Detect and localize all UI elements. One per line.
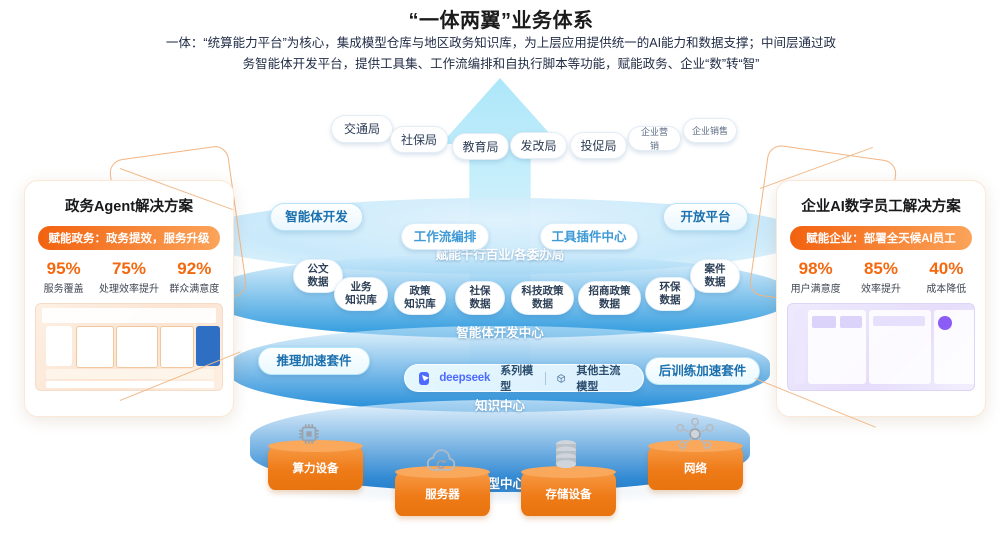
deepseek-logo-icon [419,372,429,385]
pill-inference-kit[interactable]: 推理加速套件 [258,347,370,375]
right-stat-0-label: 用户满意度 [783,280,848,295]
pill-department-0[interactable]: 交通局 [331,115,393,143]
left-card-screenshot-mock [35,303,223,391]
model-strip[interactable]: deepseek 系列模型 其他主流模型 [404,364,644,392]
right-card-screenshot-mock [787,303,975,391]
right-solution-card: 企业AI数字员工解决方案 赋能企业：部署全天候AI员工 98% 用户满意度 85… [776,180,986,417]
pill-capability-agent-dev[interactable]: 智能体开发 [270,203,363,231]
right-stat-2: 40% 成本降低 [914,259,979,295]
subtitle-line-1: 一体：“统算能力平台”为核心，集成模型仓库与地区政务知识库，为上层应用提供统一的… [145,33,857,54]
pill-knowledge-7[interactable]: 案件 数据 [690,259,740,293]
infra-storage[interactable]: 存储设备 [521,472,616,516]
strip-divider [545,372,546,385]
pill-capability-open-platform[interactable]: 开放平台 [663,203,748,231]
infra-server[interactable]: 服务器 [395,472,490,516]
cube-icon [556,372,566,385]
right-stat-1-value: 85% [848,259,913,279]
deepseek-suffix: 系列模型 [500,362,535,394]
left-stat-1: 75% 处理效率提升 [96,259,161,295]
right-card-title: 企业AI数字员工解决方案 [777,195,985,216]
left-stat-2: 92% 群众满意度 [162,259,227,295]
pill-department-1[interactable]: 社保局 [390,126,448,153]
pill-knowledge-3[interactable]: 社保 数据 [455,281,505,315]
pill-knowledge-4[interactable]: 科技政策 数据 [511,281,574,315]
page-subtitle: 一体：“统算能力平台”为核心，集成模型仓库与地区政务知识库，为上层应用提供统一的… [145,33,857,75]
left-stat-1-label: 处理效率提升 [96,280,161,295]
left-stat-1-value: 75% [96,259,161,279]
right-stat-0: 98% 用户满意度 [783,259,848,295]
right-stat-1: 85% 效率提升 [848,259,913,295]
right-card-ribbon: 赋能企业：部署全天候AI员工 [790,226,972,250]
layer-label-knowledge: 知识中心 [180,395,820,414]
layer-label-agent-dev: 智能体开发中心 [180,322,820,341]
infra-compute-label: 算力设备 [293,460,339,476]
deepseek-name: deepseek [439,372,490,384]
infra-network[interactable]: 网络 [648,446,743,490]
right-card-stats: 98% 用户满意度 85% 效率提升 40% 成本降低 [783,259,979,295]
subtitle-line-2: 务智能体开发平台，提供工具集、工作流编排和自执行脚本等功能，赋能政务、企业“数”… [145,54,857,75]
left-solution-card: 政务Agent解决方案 赋能政务：政务提效，服务升级 95% 服务覆盖 75% … [24,180,234,417]
page-title: “一体两翼”业务体系 [0,4,1002,33]
network-icon [673,418,717,450]
left-stat-0-label: 服务覆盖 [31,280,96,295]
right-stat-2-value: 40% [914,259,979,279]
left-stat-2-label: 群众满意度 [162,280,227,295]
database-icon [551,438,581,474]
infographic-canvas: “一体两翼”业务体系 一体：“统算能力平台”为核心，集成模型仓库与地区政务知识库… [0,0,1002,534]
right-stat-0-value: 98% [783,259,848,279]
pill-department-2[interactable]: 教育局 [452,133,509,160]
pill-posttrain-kit[interactable]: 后训练加速套件 [645,357,760,385]
pill-knowledge-1[interactable]: 业务 知识库 [334,277,388,311]
right-stat-1-label: 效率提升 [848,280,913,295]
left-stat-0: 95% 服务覆盖 [31,259,96,295]
infra-server-label: 服务器 [425,486,460,502]
pill-department-6[interactable]: 企业销售 [683,118,737,143]
left-card-ribbon: 赋能政务：政务提效，服务升级 [38,226,220,250]
pill-department-3[interactable]: 发改局 [510,132,567,159]
cloud-sync-icon [424,449,460,475]
infra-network-label: 网络 [684,460,707,476]
pill-knowledge-5[interactable]: 招商政策 数据 [578,281,641,315]
pill-department-4[interactable]: 投促局 [570,132,627,159]
left-stat-2-value: 92% [162,259,227,279]
pill-department-5[interactable]: 企业营销 [628,126,681,151]
pill-capability-workflow[interactable]: 工作流编排 [401,223,489,250]
chip-icon [296,421,322,447]
infra-storage-label: 存储设备 [546,486,592,502]
right-stat-2-label: 成本降低 [914,280,979,295]
infra-compute[interactable]: 算力设备 [268,446,363,490]
left-card-stats: 95% 服务覆盖 75% 处理效率提升 92% 群众满意度 [31,259,227,295]
pill-knowledge-6[interactable]: 环保 数据 [645,277,695,311]
other-models-label: 其他主流模型 [576,362,629,394]
pill-knowledge-2[interactable]: 政策 知识库 [394,281,446,315]
pill-capability-tools[interactable]: 工具插件中心 [540,223,638,250]
left-stat-0-value: 95% [31,259,96,279]
